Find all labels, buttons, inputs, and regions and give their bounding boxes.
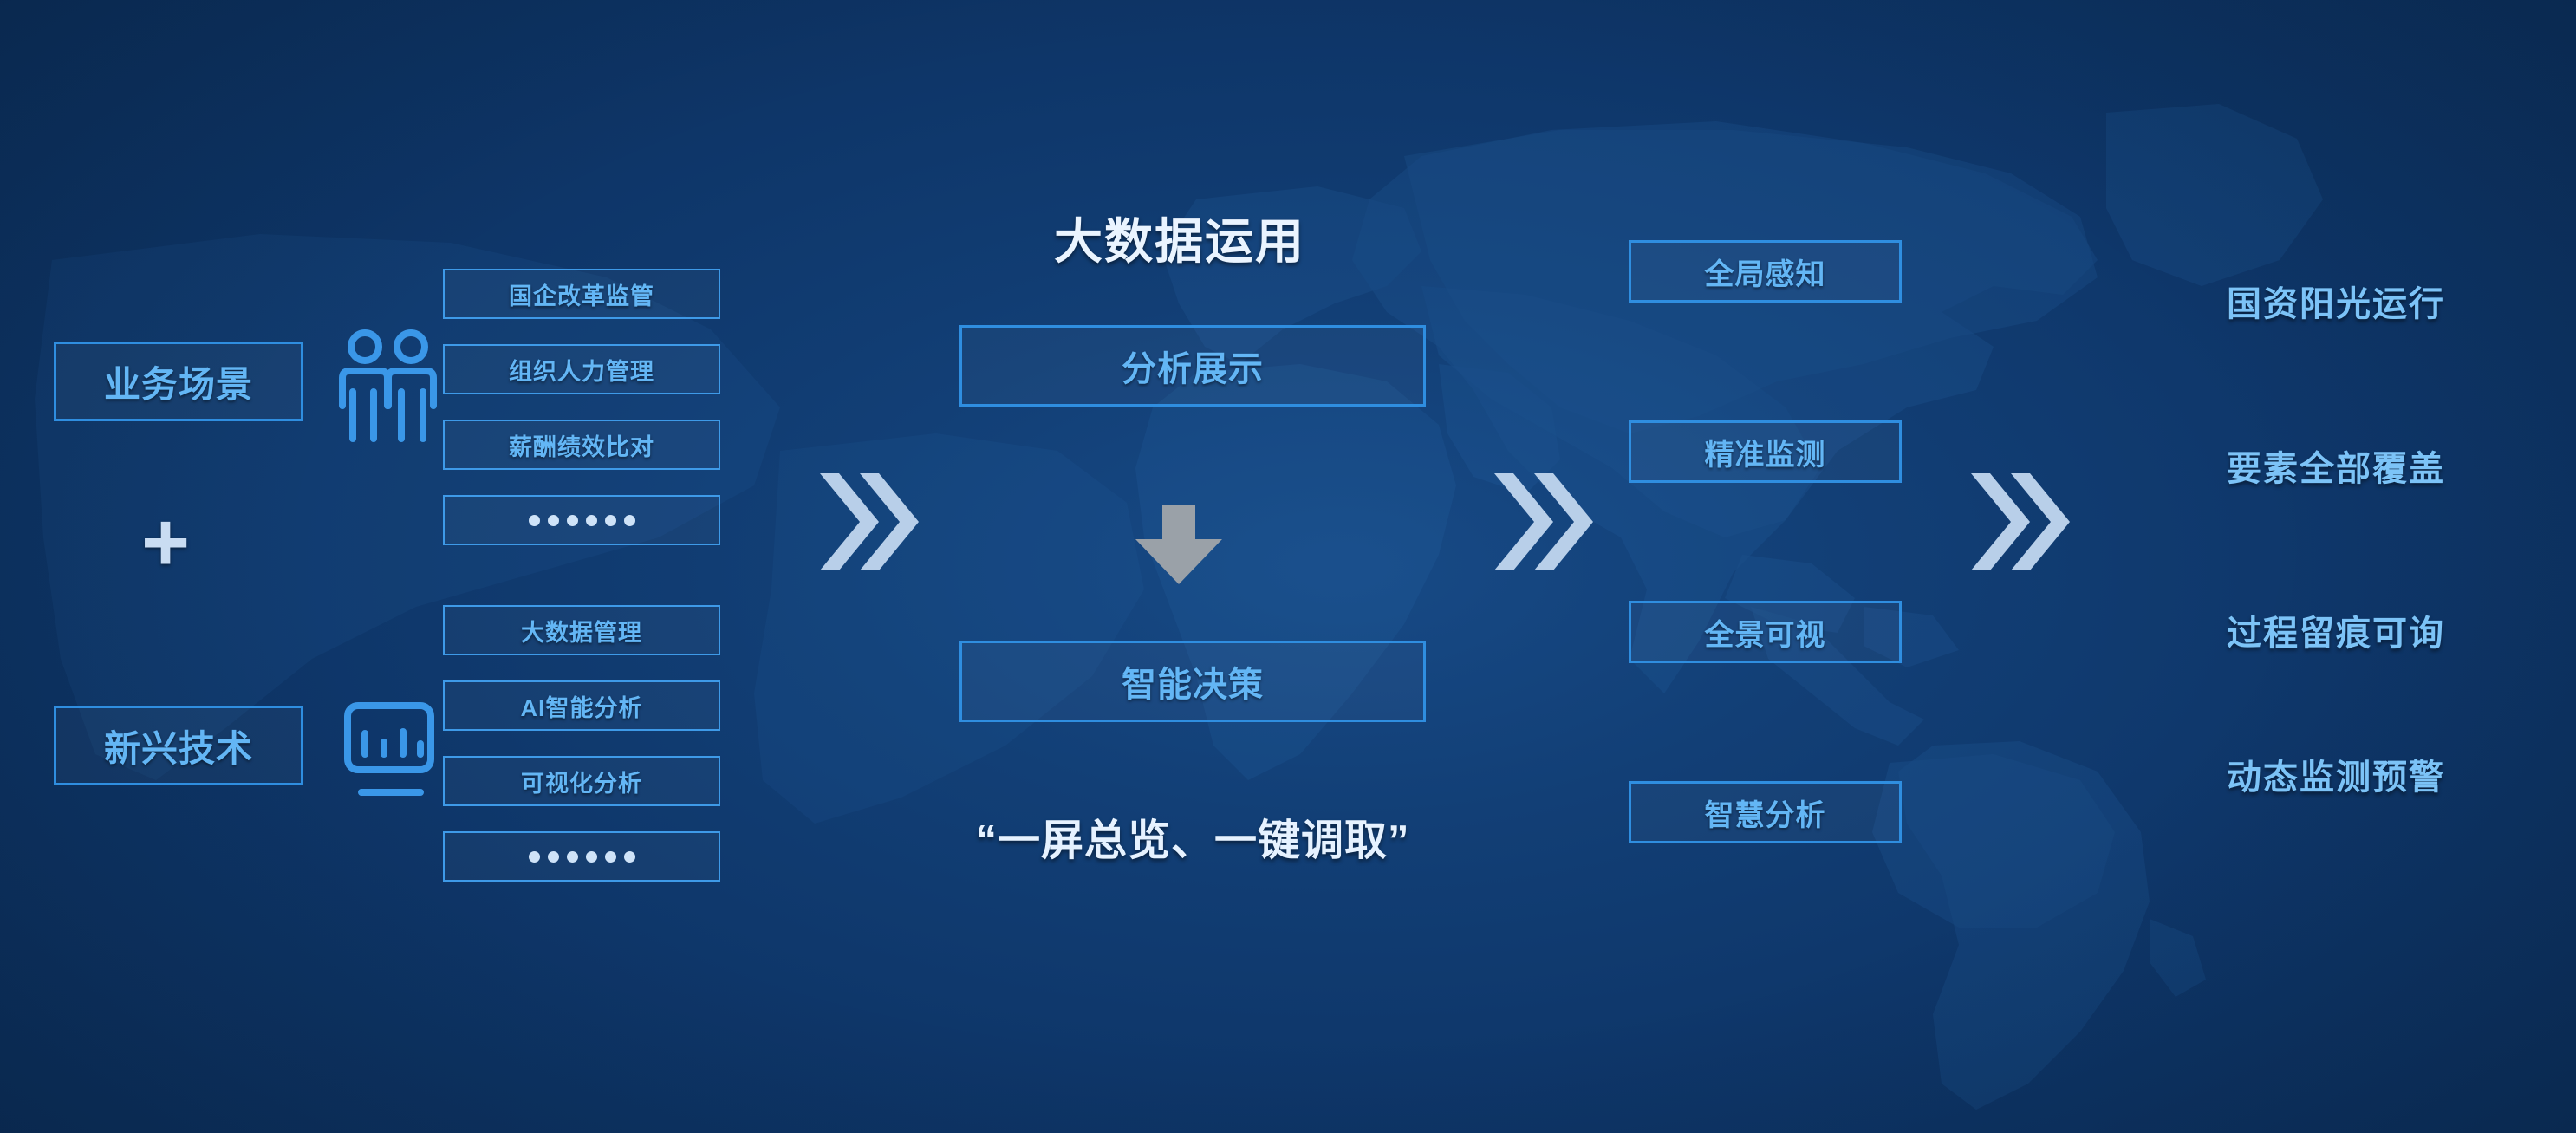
list-item-label: 组织人力管理 — [509, 353, 654, 387]
list-item-business-1[interactable]: 组织人力管理 — [443, 344, 720, 394]
monitor-bar-chart-icon — [342, 699, 439, 801]
ellipsis-dots — [529, 851, 635, 863]
double-chevron-right-icon-2 — [1489, 468, 1593, 576]
outcome-box-1[interactable]: 精准监测 — [1629, 420, 1902, 483]
box-business-scenario-label: 业务场景 — [104, 355, 253, 408]
slide-canvas: 业务场景 + 新兴技术 国企改革监管 — [0, 0, 2576, 1133]
list-item-business-2[interactable]: 薪酬绩效比对 — [443, 420, 720, 470]
world-map-background — [0, 0, 2576, 1133]
plus-sign: + — [141, 501, 190, 584]
box-intelligent-decision-label: 智能决策 — [1122, 656, 1264, 706]
box-emerging-technology[interactable]: 新兴技术 — [54, 706, 303, 785]
list-item-technology-2[interactable]: 可视化分析 — [443, 756, 720, 806]
two-people-icon — [334, 326, 442, 447]
list-item-label: 大数据管理 — [521, 614, 642, 648]
benefit-text-3: 动态监测预警 — [2193, 749, 2479, 799]
box-analysis-display-label: 分析展示 — [1122, 341, 1264, 391]
list-item-technology-1[interactable]: AI智能分析 — [443, 680, 720, 731]
outcome-box-label: 智慧分析 — [1705, 791, 1826, 834]
outcome-box-label: 全局感知 — [1705, 251, 1826, 293]
box-emerging-technology-label: 新兴技术 — [104, 720, 253, 772]
list-item-technology-0[interactable]: 大数据管理 — [443, 605, 720, 655]
outcome-box-0[interactable]: 全局感知 — [1629, 240, 1902, 303]
outcome-box-3[interactable]: 智慧分析 — [1629, 781, 1902, 843]
list-item-label: 可视化分析 — [521, 765, 642, 798]
page-title: 大数据运用 — [1054, 203, 1305, 273]
slogan-quote: “一屏总览、一键调取” — [942, 806, 1443, 868]
outcome-box-label: 精准监测 — [1705, 431, 1826, 473]
double-chevron-right-icon-3 — [1966, 468, 2070, 576]
double-chevron-right-icon-1 — [815, 468, 919, 576]
list-item-label: 薪酬绩效比对 — [509, 428, 654, 462]
list-item-business-3[interactable]: …… — [443, 495, 720, 545]
list-item-label: AI智能分析 — [521, 689, 643, 723]
list-item-label: 国企改革监管 — [509, 277, 654, 311]
box-business-scenario[interactable]: 业务场景 — [54, 342, 303, 421]
ellipsis-dots — [529, 515, 635, 526]
outcome-box-2[interactable]: 全景可视 — [1629, 601, 1902, 663]
list-item-technology-3[interactable]: …… — [443, 831, 720, 882]
outcome-box-label: 全景可视 — [1705, 611, 1826, 654]
list-item-business-0[interactable]: 国企改革监管 — [443, 269, 720, 319]
box-intelligent-decision[interactable]: 智能决策 — [959, 641, 1426, 722]
box-analysis-display[interactable]: 分析展示 — [959, 325, 1426, 407]
benefit-text-0: 国资阳光运行 — [2193, 276, 2479, 326]
benefit-text-1: 要素全部覆盖 — [2193, 440, 2479, 491]
benefit-text-2: 过程留痕可询 — [2193, 605, 2479, 655]
arrow-down-icon — [1134, 503, 1224, 586]
